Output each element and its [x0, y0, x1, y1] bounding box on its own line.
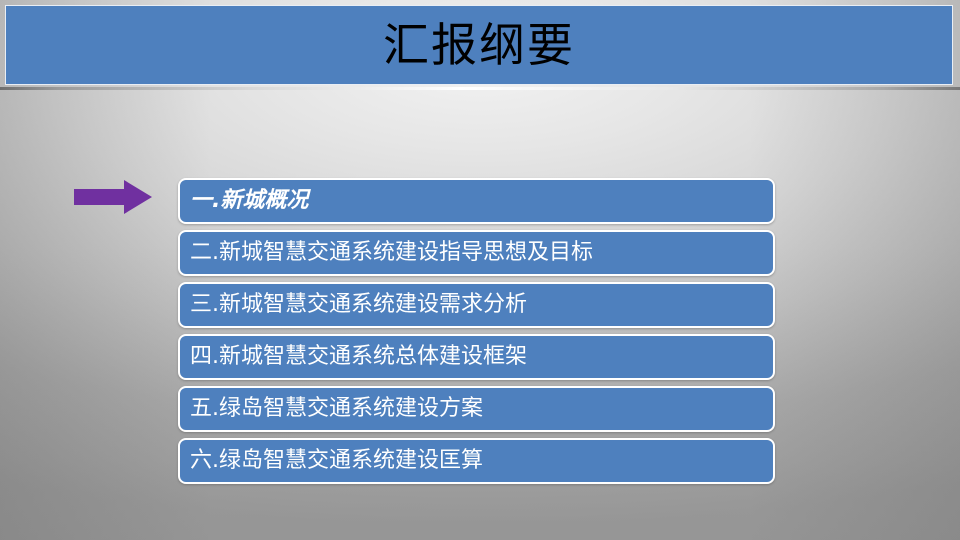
banner-divider — [0, 87, 960, 90]
presentation-slide: 汇报纲要 一.新城概况 二.新城智慧交通系统建设指导思想及目标 三.新城智慧交通… — [0, 0, 960, 540]
outline-item-label: 四.新城智慧交通系统总体建设框架 — [190, 346, 527, 368]
outline-item-1[interactable]: 一.新城概况 — [178, 178, 775, 224]
outline-item-label: 二.新城智慧交通系统建设指导思想及目标 — [190, 242, 593, 264]
outline-item-label: 一.新城概况 — [190, 190, 308, 212]
outline-item-4[interactable]: 四.新城智慧交通系统总体建设框架 — [178, 334, 775, 380]
outline-item-label: 六.绿岛智慧交通系统建设匡算 — [190, 450, 483, 472]
outline-item-5[interactable]: 五.绿岛智慧交通系统建设方案 — [178, 386, 775, 432]
outline-item-label: 五.绿岛智慧交通系统建设方案 — [190, 398, 483, 420]
outline-item-3[interactable]: 三.新城智慧交通系统建设需求分析 — [178, 282, 775, 328]
outline-item-label: 三.新城智慧交通系统建设需求分析 — [190, 294, 527, 316]
outline-item-2[interactable]: 二.新城智慧交通系统建设指导思想及目标 — [178, 230, 775, 276]
outline-list: 一.新城概况 二.新城智慧交通系统建设指导思想及目标 三.新城智慧交通系统建设需… — [178, 178, 775, 484]
page-title: 汇报纲要 — [383, 22, 575, 68]
slide-title-banner: 汇报纲要 — [5, 5, 953, 85]
outline-item-6[interactable]: 六.绿岛智慧交通系统建设匡算 — [178, 438, 775, 484]
right-arrow-icon — [74, 180, 152, 214]
